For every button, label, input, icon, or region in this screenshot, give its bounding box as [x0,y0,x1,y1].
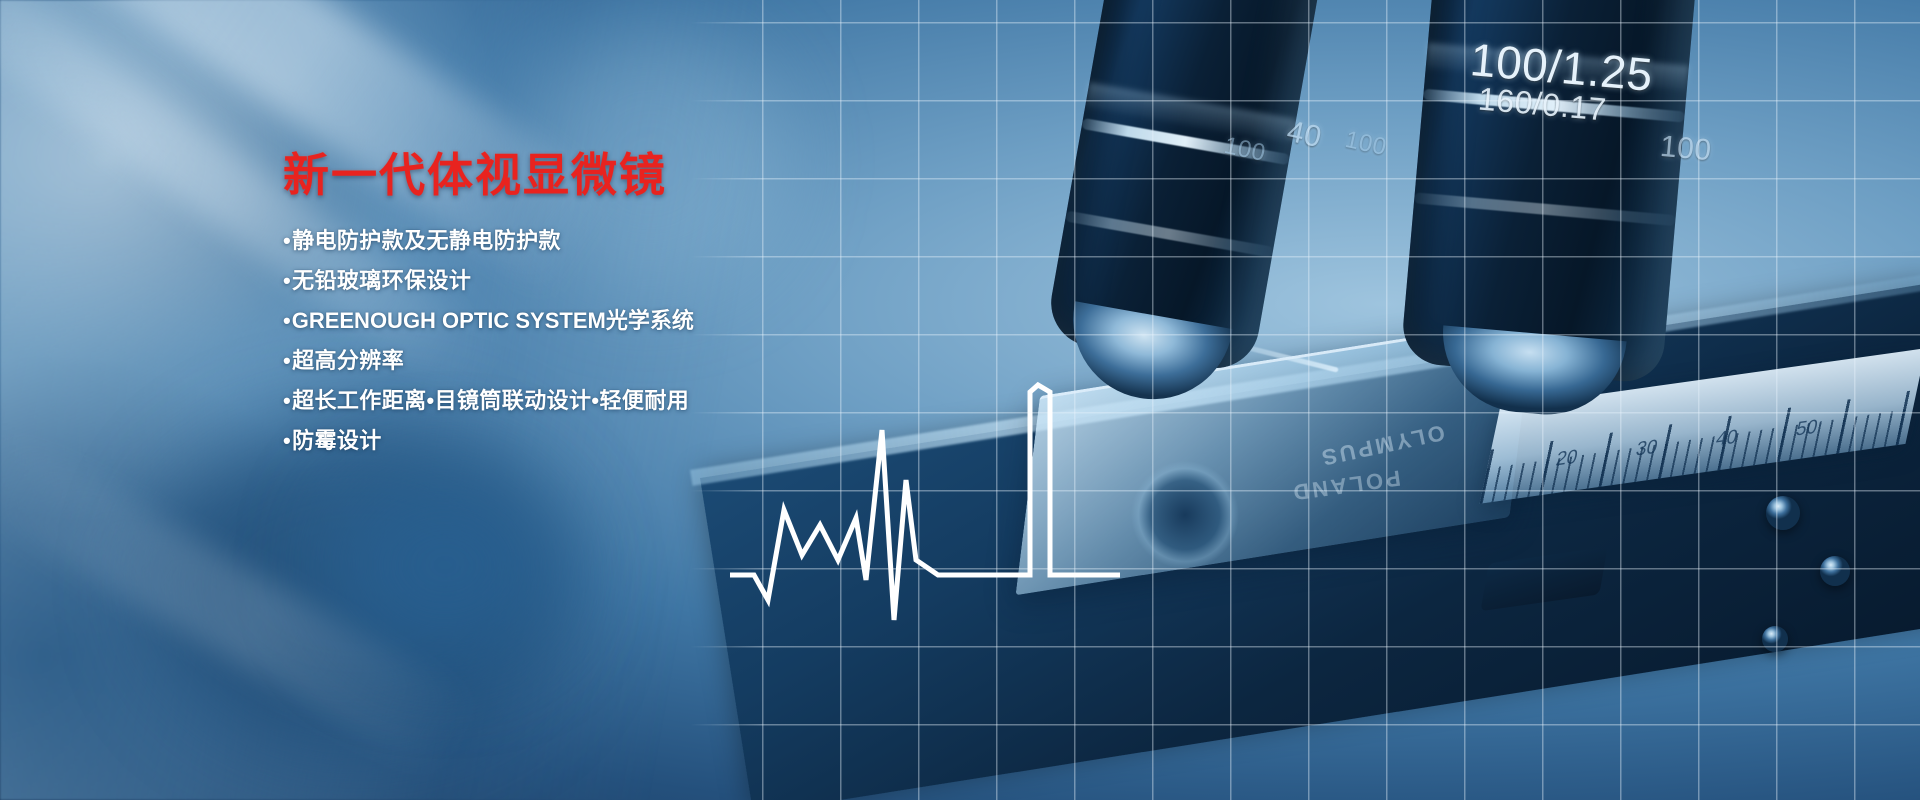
feature-bullet-item: •超高分辨率 [283,349,903,372]
objective-extra-mark: 100 [1659,130,1713,168]
feature-bullet-text: 超高分辨率 [292,348,404,373]
objective-extra-mark: 100 [1343,126,1389,162]
bullet-dot-icon: • [283,348,291,373]
feature-bullet-list: •静电防护款及无静电防护款•无铅玻璃环保设计•GREENOUGH OPTIC S… [283,229,903,453]
objective-lens-left [1044,0,1325,375]
bullet-dot-icon: • [283,268,291,293]
product-hero-banner: OLYMPUS POLAND 20 30 40 50 100/1.25 160/… [0,0,1920,800]
stage-knob [1820,556,1850,586]
stage-knob [1766,496,1800,530]
feature-bullet-item: •GREENOUGH OPTIC SYSTEM光学系统 [283,309,903,332]
feature-bullet-item: •超长工作距离•目镜筒联动设计•轻便耐用 [283,389,903,412]
feature-bullet-text: GREENOUGH OPTIC SYSTEM光学系统 [292,308,694,333]
bullet-dot-icon: • [283,428,291,453]
stage-knob [1762,626,1788,652]
feature-bullet-text: 超长工作距离•目镜筒联动设计•轻便耐用 [292,388,689,413]
bullet-dot-icon: • [283,308,291,333]
bullet-dot-icon: • [283,228,291,253]
feature-bullet-item: •防霉设计 [283,429,903,452]
feature-bullet-item: •静电防护款及无静电防护款 [283,229,903,252]
page-title: 新一代体视显微镜 [283,150,903,201]
feature-bullet-text: 防霉设计 [292,428,382,453]
feature-bullet-text: 无铅玻璃环保设计 [292,268,471,293]
feature-bullet-item: •无铅玻璃环保设计 [283,269,903,292]
feature-bullet-text: 静电防护款及无静电防护款 [292,228,561,253]
objective-magnification-label: 40 [1284,115,1325,155]
bullet-dot-icon: • [283,388,291,413]
marketing-copy-block: 新一代体视显微镜 •静电防护款及无静电防护款•无铅玻璃环保设计•GREENOUG… [283,150,903,469]
